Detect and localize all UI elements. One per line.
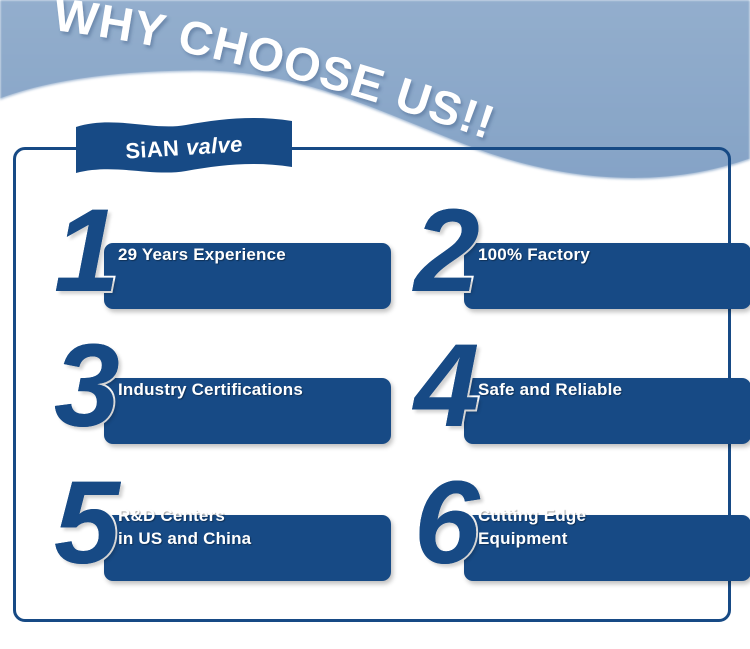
feature-list: 1 1 29 Years Experience 2 2 100% Factory… <box>13 147 731 622</box>
feature-number: 5 <box>46 461 156 586</box>
feature-item: 3 3 Industry Certifications <box>46 328 391 453</box>
feature-item: 5 5 R&D Centers in US and China <box>46 465 391 590</box>
feature-item: 1 1 29 Years Experience <box>46 193 391 318</box>
why-choose-us-graphic: WHY CHOOSE US!! SiAN valve 1 1 29 Years … <box>0 0 750 649</box>
feature-number: 6 <box>406 461 516 586</box>
feature-item: 4 4 Safe and Reliable <box>406 328 750 453</box>
feature-number: 2 <box>406 189 516 314</box>
feature-number: 4 <box>406 324 516 449</box>
feature-number: 3 <box>46 324 156 449</box>
feature-item: 6 6 Cutting Edge Equipment <box>406 465 750 590</box>
feature-number: 1 <box>46 189 156 314</box>
feature-item: 2 2 100% Factory <box>406 193 750 318</box>
